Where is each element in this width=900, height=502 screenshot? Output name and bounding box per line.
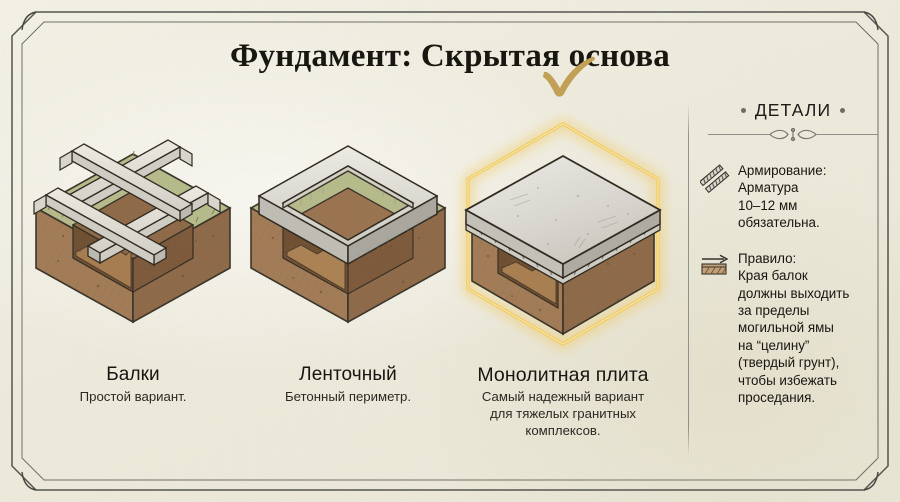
- details-heading-text: ДЕТАЛИ: [755, 100, 831, 121]
- rebar-icon: [700, 163, 730, 193]
- option-caption-slab: Монолитная плита Самый надежный вариант …: [448, 364, 678, 439]
- detail-text-rule: Правило: Края балок должны выходить за п…: [738, 250, 849, 407]
- options-zone: Балки Простой вариант.: [0, 96, 688, 466]
- detail-item-rule: Правило: Края балок должны выходить за п…: [700, 250, 886, 407]
- bullet-dot-right: [840, 108, 845, 113]
- option-subtitle-line: для тяжелых гранитных: [448, 406, 678, 423]
- isometric-soil-cube-with-concrete-beams-icon: [18, 96, 248, 348]
- option-subtitle-line: Самый надежный вариант: [448, 389, 678, 406]
- option-card-beams[interactable]: Балки Простой вариант.: [18, 96, 248, 466]
- page-title: Фундамент: Скрытая основа: [0, 38, 900, 75]
- detail-line: на “целину”: [738, 337, 849, 354]
- option-caption-strip: Ленточный Бетонный периметр.: [233, 364, 463, 405]
- detail-line: за пределы: [738, 302, 849, 319]
- detail-line: проседания.: [738, 389, 849, 406]
- detail-text-reinforcement: Армирование: Арматура 10–12 мм обязатель…: [738, 162, 826, 232]
- arrow-over-soil-icon: [700, 251, 730, 281]
- detail-line: Арматура: [738, 179, 826, 196]
- ornamental-divider: [700, 126, 886, 143]
- detail-line: могильной ямы: [738, 319, 849, 336]
- option-caption-beams: Балки Простой вариант.: [18, 364, 248, 405]
- detail-item-reinforcement: Армирование: Арматура 10–12 мм обязатель…: [700, 162, 886, 232]
- detail-line: Армирование:: [738, 162, 826, 179]
- option-card-strip[interactable]: Ленточный Бетонный периметр.: [233, 96, 463, 466]
- detail-line: обязательна.: [738, 214, 826, 231]
- bullet-dot-left: [741, 108, 746, 113]
- option-subtitle: Самый надежный вариант для тяжелых грани…: [448, 389, 678, 439]
- details-panel: ДЕТАЛИ: [700, 100, 886, 406]
- detail-line: (твердый грунт),: [738, 354, 849, 371]
- detail-line: 10–12 мм: [738, 197, 826, 214]
- isometric-soil-cube-with-concrete-perimeter-icon: [233, 96, 463, 348]
- option-card-slab[interactable]: Монолитная плита Самый надежный вариант …: [448, 96, 678, 466]
- detail-line: Правило:: [738, 250, 849, 267]
- detail-line: должны выходить: [738, 285, 849, 302]
- option-title: Ленточный: [233, 364, 463, 386]
- option-subtitle-line: комплексов.: [448, 423, 678, 440]
- option-title: Монолитная плита: [448, 364, 678, 386]
- option-subtitle: Простой вариант.: [18, 389, 248, 406]
- poster-root: Фундамент: Скрытая основа: [0, 0, 900, 502]
- option-subtitle: Бетонный периметр.: [233, 389, 463, 406]
- option-title: Балки: [18, 364, 248, 386]
- details-heading: ДЕТАЛИ: [700, 100, 886, 121]
- isometric-soil-cube-with-monolithic-slab-icon: [448, 96, 678, 348]
- check-icon: [536, 52, 606, 98]
- detail-line: чтобы избежать: [738, 372, 849, 389]
- vertical-divider: [688, 104, 689, 456]
- detail-line: Края балок: [738, 267, 849, 284]
